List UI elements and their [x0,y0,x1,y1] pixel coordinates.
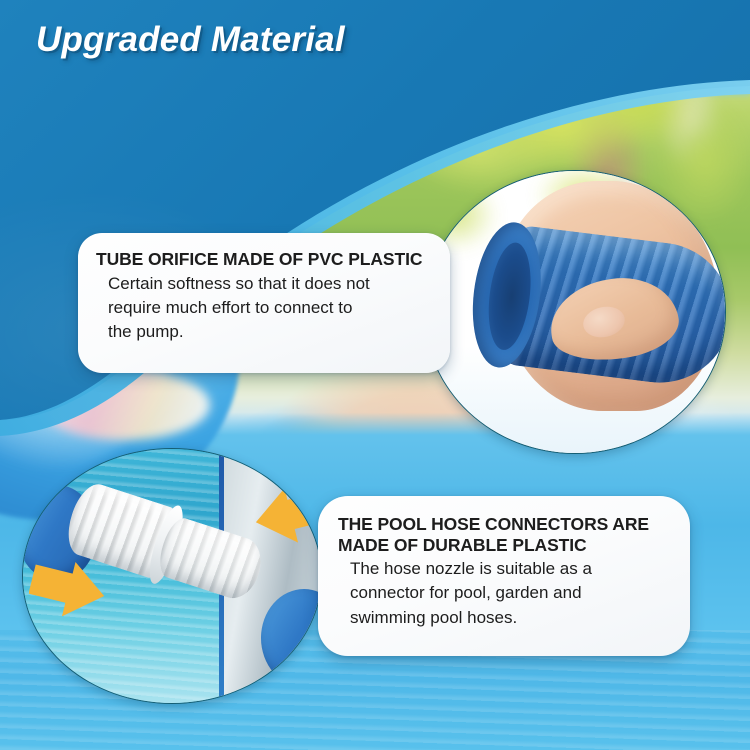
hose-rim-inner [483,240,536,352]
callout-2-body-line-3: swimming pool hoses. [350,606,672,630]
photo-circle-hand-holding-hose [424,170,726,454]
connector-segment-right [154,514,268,604]
callout-2-heading: THE POOL HOSE CONNECTORS ARE MADE OF DUR… [338,514,672,555]
callout-1-heading: TUBE ORIFICE MADE OF PVC PLASTIC [96,249,432,270]
page-title: Upgraded Material [36,20,345,60]
callout-2-body-line-2: connector for pool, garden and [350,581,672,605]
callout-pool-hose-connectors: THE POOL HOSE CONNECTORS ARE MADE OF DUR… [318,496,690,656]
callout-2-heading-line-2: MADE OF DURABLE PLASTIC [338,535,672,556]
callout-2-heading-line-1: THE POOL HOSE CONNECTORS ARE [338,514,649,534]
callout-1-body-line-2: require much effort to connect to [108,296,432,320]
callout-1-body-line-1: Certain softness so that it does not [108,272,432,296]
product-feature-poster: Upgraded Material [0,0,750,750]
callout-2-body-line-1: The hose nozzle is suitable as a [350,557,672,581]
photo-circle-white-connector [22,448,322,704]
callout-2-body: The hose nozzle is suitable as a connect… [338,557,672,629]
callout-1-body: Certain softness so that it does not req… [96,272,432,344]
callout-tube-orifice: TUBE ORIFICE MADE OF PVC PLASTIC Certain… [78,233,450,373]
callout-1-body-line-3: the pump. [108,320,432,344]
